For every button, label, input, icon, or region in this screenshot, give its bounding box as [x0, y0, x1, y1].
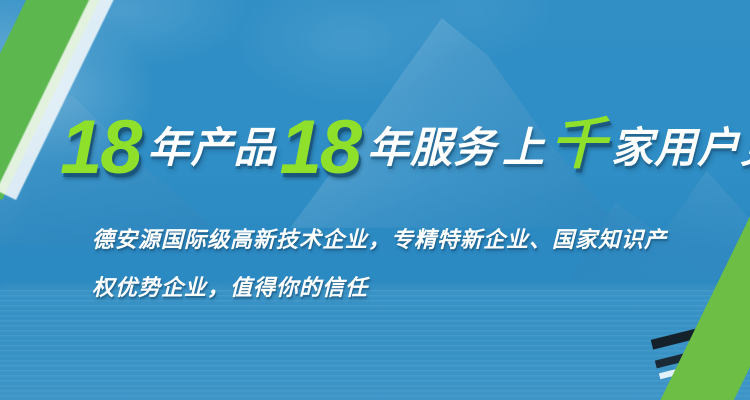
headline-text-years-product: 年产品 — [145, 127, 280, 169]
headline-text-shang: 上 — [499, 127, 548, 169]
headline-text-years-service: 年服务 — [364, 127, 499, 169]
subtitle-line-2: 权优势企业，值得你的信任 — [92, 264, 692, 312]
promo-banner: 18 年产品 18 年服务 上 千 家用户见证 德安源国际级高新技术企业，专精特… — [0, 0, 750, 400]
subtitle-line-1: 德安源国际级高新技术企业，专精特新企业、国家知识产 — [92, 216, 692, 264]
headline-number-years-product: 18 — [60, 110, 145, 186]
headline-text-qian-accent: 千 — [548, 116, 608, 172]
headline-number-years-service: 18 — [280, 110, 365, 186]
headline-text-users-witness: 家用户见证 — [608, 127, 750, 169]
headline: 18 年产品 18 年服务 上 千 家用户见证 — [60, 102, 740, 194]
subtitle: 德安源国际级高新技术企业，专精特新企业、国家知识产 权优势企业，值得你的信任 — [92, 216, 692, 312]
